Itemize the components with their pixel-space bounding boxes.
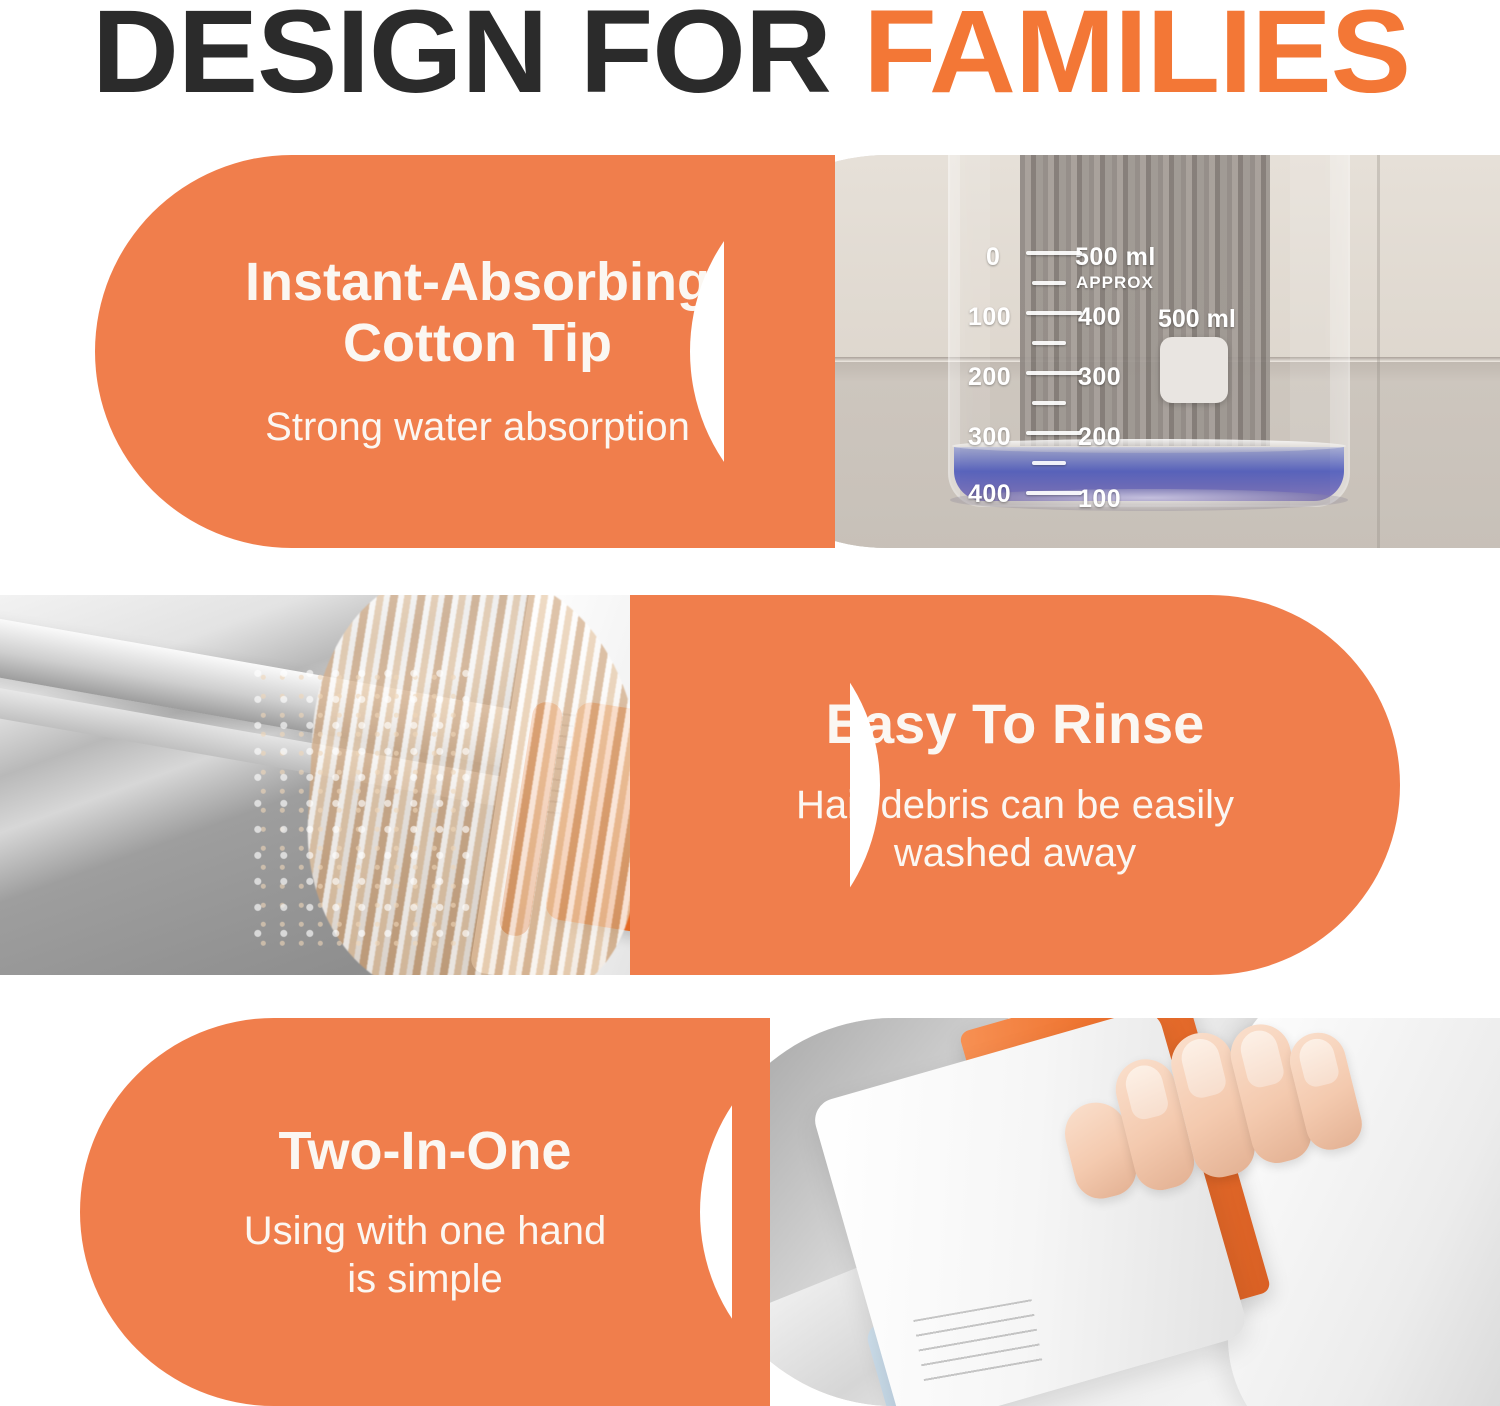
beaker-grad-left-100: 100 xyxy=(968,303,1011,332)
beaker-grad-right-400: 400 xyxy=(1078,303,1121,332)
beaker-volume-label: 500 ml xyxy=(1158,305,1236,334)
beaker-grad-right-100: 100 xyxy=(1078,485,1121,514)
tile-edge-line xyxy=(1377,155,1380,548)
card-subtitle-line2: washed away xyxy=(894,831,1136,875)
fingernail xyxy=(1296,1035,1341,1089)
card-subtitle-instant-absorbing: Strong water absorption xyxy=(265,403,690,451)
beaker-grad-left-300: 300 xyxy=(968,423,1011,452)
card-title-line2: Cotton Tip xyxy=(343,313,612,373)
card-text-panel-two-in-one: Two-In-One Using with one hand is simple xyxy=(80,1018,770,1406)
beaker-tick-b xyxy=(1032,341,1066,345)
beaker-grad-right-500: 500 ml xyxy=(1075,243,1156,272)
card-text-panel-instant-absorbing: Instant-Absorbing Cotton Tip Strong wate… xyxy=(95,155,835,548)
beaker-grad-left-400: 400 xyxy=(968,480,1011,509)
fingernail xyxy=(1237,1026,1287,1089)
water-splash-droplets xyxy=(250,663,470,952)
card-title-instant-absorbing: Instant-Absorbing Cotton Tip xyxy=(245,252,710,373)
beaker-tick-300 xyxy=(1026,431,1082,435)
beaker-tick-100 xyxy=(1026,311,1082,315)
beaker-tick-400 xyxy=(1026,491,1082,495)
beaker-tick-d xyxy=(1032,461,1066,465)
beaker-grad-left-200: 200 xyxy=(968,363,1011,392)
card-subtitle-line1: Using with one hand xyxy=(244,1209,606,1253)
beaker-tick-0 xyxy=(1026,251,1082,255)
page-title-accent: FAMILIES xyxy=(863,0,1410,118)
beaker-grad-left-0: 0 xyxy=(986,243,1000,272)
feature-card-easy-to-rinse: Easy To Rinse Hair debris can be easily … xyxy=(0,595,1500,975)
card-title-line1: Instant-Absorbing xyxy=(245,252,710,312)
beaker-grad-right-300: 300 xyxy=(1078,363,1121,392)
card-subtitle-line2: is simple xyxy=(347,1257,503,1301)
white-chip xyxy=(1160,337,1228,403)
fingernail xyxy=(1122,1061,1171,1121)
card-text-panel-easy-to-rinse: Easy To Rinse Hair debris can be easily … xyxy=(630,595,1400,975)
fingernail xyxy=(1178,1035,1229,1101)
card-title-two-in-one: Two-In-One xyxy=(279,1121,572,1181)
card-subtitle-two-in-one: Using with one hand is simple xyxy=(244,1207,606,1303)
beaker-tick-c xyxy=(1032,401,1066,405)
beaker-tick-a xyxy=(1032,281,1066,285)
page-header: DESIGN FOR FAMILIES xyxy=(0,0,1500,112)
page-title: DESIGN FOR FAMILIES xyxy=(92,0,1410,104)
beaker-tick-200 xyxy=(1026,371,1082,375)
hand-gripping-wringer-photo xyxy=(700,1018,1500,1406)
feature-card-instant-absorbing: 0 100 200 300 400 500 ml APPROX 400 300 … xyxy=(0,155,1500,548)
beaker-grad-right-200: 200 xyxy=(1078,423,1121,452)
card-title-easy-to-rinse: Easy To Rinse xyxy=(826,693,1205,756)
feature-card-two-in-one: Two-In-One Using with one hand is simple xyxy=(0,1018,1500,1406)
page-title-dark: DESIGN FOR xyxy=(92,0,831,118)
beaker-approx-label: APPROX xyxy=(1076,273,1154,293)
